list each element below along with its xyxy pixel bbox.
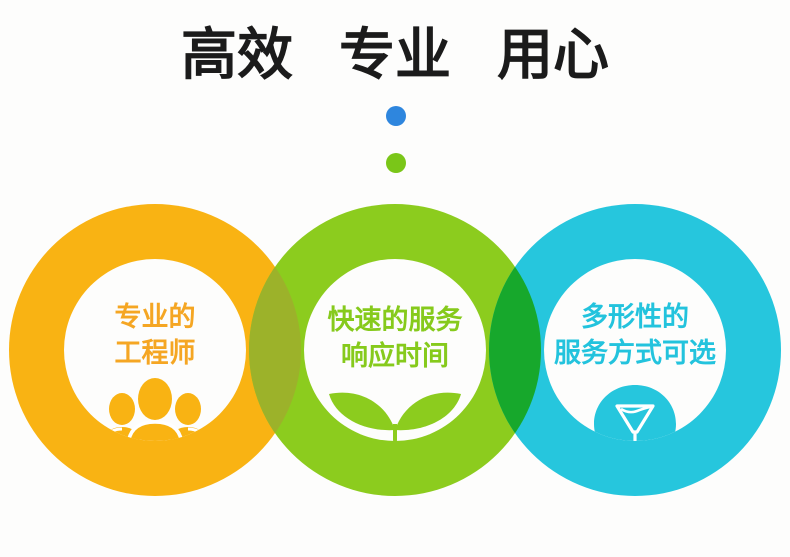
infographic-canvas: 高效专业用心 bbox=[0, 0, 790, 557]
venn-diagram bbox=[0, 0, 790, 557]
overlap-green-cyan bbox=[0, 0, 790, 557]
